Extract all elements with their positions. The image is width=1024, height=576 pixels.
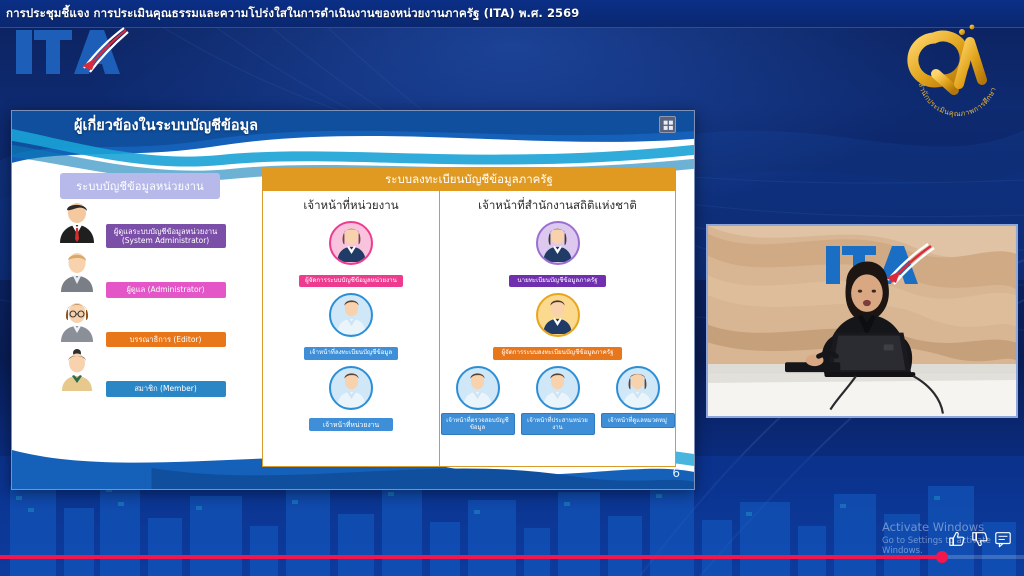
slide-page-number: 6: [672, 466, 680, 480]
role-label: สมาชิก (Member): [106, 381, 226, 396]
role-label: เจ้าหน้าที่ดูแลหมวดหมู่: [601, 413, 675, 428]
role-label: ผู้ดูแลระบบบัญชีข้อมูลหน่วยงาน (System A…: [106, 224, 226, 249]
role-label: นายทะเบียนบัญชีข้อมูลภาครัฐ: [509, 275, 605, 288]
role-item: ผู้จัดการระบบลงทะเบียนบัญชีข้อมูลภาครัฐ: [440, 293, 675, 359]
role-item: สมาชิก (Member): [34, 349, 246, 396]
avatar-male-blue-icon: [329, 366, 373, 410]
role-item: ผู้จัดการระบบบัญชีข้อมูลหน่วยงาน: [263, 221, 439, 287]
presenter-figure: [708, 226, 1016, 418]
avatar-male-blue-icon: [329, 293, 373, 337]
left-column-badge: ระบบบัญชีข้อมูลหน่วยงาน: [60, 173, 220, 199]
comment-icon[interactable]: [994, 530, 1012, 548]
avatar-female-glasses-icon: [54, 300, 100, 342]
nso-officer-column: เจ้าหน้าที่สำนักงานสถิติแห่งชาติ นายทะเบ…: [440, 191, 675, 466]
window-header: การประชุมชี้แจง การประเมินคุณธรรมและความ…: [0, 0, 1024, 28]
role-item: เจ้าหน้าที่ตรวจสอบบัญชีข้อมูล: [441, 366, 515, 435]
bottom-role-row: เจ้าหน้าที่ตรวจสอบบัญชีข้อมูล เจ้าหน้าที…: [440, 366, 675, 435]
role-label: ผู้จัดการระบบลงทะเบียนบัญชีข้อมูลภาครัฐ: [493, 347, 621, 360]
role-item: เจ้าหน้าที่หน่วยงาน: [263, 366, 439, 432]
role-item: เจ้าหน้าที่ประสานหน่วยงาน: [521, 366, 595, 435]
role-label: ผู้จัดการระบบบัญชีข้อมูลหน่วยงาน: [299, 275, 403, 288]
avatar-male-blue-icon: [536, 366, 580, 410]
avatar-male-suit-icon: [54, 201, 100, 243]
ita-logo: [12, 22, 132, 84]
role-label: บรรณาธิการ (Editor): [106, 332, 226, 347]
avatar-female-blue-icon: [616, 366, 660, 410]
avatar-female-pink-icon: [329, 221, 373, 265]
thumbs-down-icon[interactable]: [971, 530, 989, 548]
grid-icon[interactable]: [659, 116, 676, 133]
presenter-video-feed[interactable]: [706, 224, 1018, 418]
role-label: เจ้าหน้าที่หน่วยงาน: [309, 418, 393, 431]
column-subheader: เจ้าหน้าที่หน่วยงาน: [263, 197, 439, 215]
role-label: ผู้ดูแล (Administrator): [106, 282, 226, 297]
role-item: ผู้ดูแล (Administrator): [34, 250, 246, 297]
role-label: เจ้าหน้าที่ลงทะเบียนบัญชีข้อมูล: [304, 347, 398, 360]
column-subheader: เจ้าหน้าที่สำนักงานสถิติแห่งชาติ: [440, 197, 675, 215]
video-progress-track[interactable]: [0, 555, 1024, 559]
presentation-slide[interactable]: ผู้เกี่ยวข้องในระบบบัญชีข้อมูล ระบบบัญชี…: [11, 110, 695, 490]
role-label: เจ้าหน้าที่ตรวจสอบบัญชีข้อมูล: [441, 413, 515, 435]
thumbs-up-icon[interactable]: [948, 530, 966, 548]
reaction-toolbar[interactable]: [948, 530, 1012, 548]
role-item: ผู้ดูแลระบบบัญชีข้อมูลหน่วยงาน (System A…: [34, 201, 246, 248]
avatar-male-blue-icon: [456, 366, 500, 410]
role-label: เจ้าหน้าที่ประสานหน่วยงาน: [521, 413, 595, 435]
header-title: การประชุมชี้แจง การประเมินคุณธรรมและความ…: [0, 5, 579, 23]
government-registration-panel: ระบบลงทะเบียนบัญชีข้อมูลภาครัฐ เจ้าหน้าท…: [262, 167, 676, 467]
avatar-male-orange-icon: [536, 293, 580, 337]
qa-logo: สำนักประเมินคุณภาพการศึกษา: [904, 18, 1010, 118]
agency-officer-column: เจ้าหน้าที่หน่วยงาน ผู้จัดการระบบบัญชีข้…: [263, 191, 440, 466]
avatar-male-grey-icon: [54, 250, 100, 292]
avatar-female-bun-icon: [54, 349, 100, 391]
agency-account-system-column: ระบบบัญชีข้อมูลหน่วยงาน ผู้ดูแลระบบบัญชี…: [34, 173, 246, 473]
slide-title: ผู้เกี่ยวข้องในระบบบัญชีข้อมูล: [74, 114, 258, 137]
role-item: นายทะเบียนบัญชีข้อมูลภาครัฐ: [440, 221, 675, 287]
registration-panel-header: ระบบลงทะเบียนบัญชีข้อมูลภาครัฐ: [263, 168, 675, 191]
avatar-female-purple-icon: [536, 221, 580, 265]
role-item: บรรณาธิการ (Editor): [34, 300, 246, 347]
video-progress-knob[interactable]: [936, 551, 948, 563]
video-progress-fill: [0, 555, 942, 559]
role-item: เจ้าหน้าที่ดูแลหมวดหมู่: [601, 366, 675, 435]
role-item: เจ้าหน้าที่ลงทะเบียนบัญชีข้อมูล: [263, 293, 439, 359]
